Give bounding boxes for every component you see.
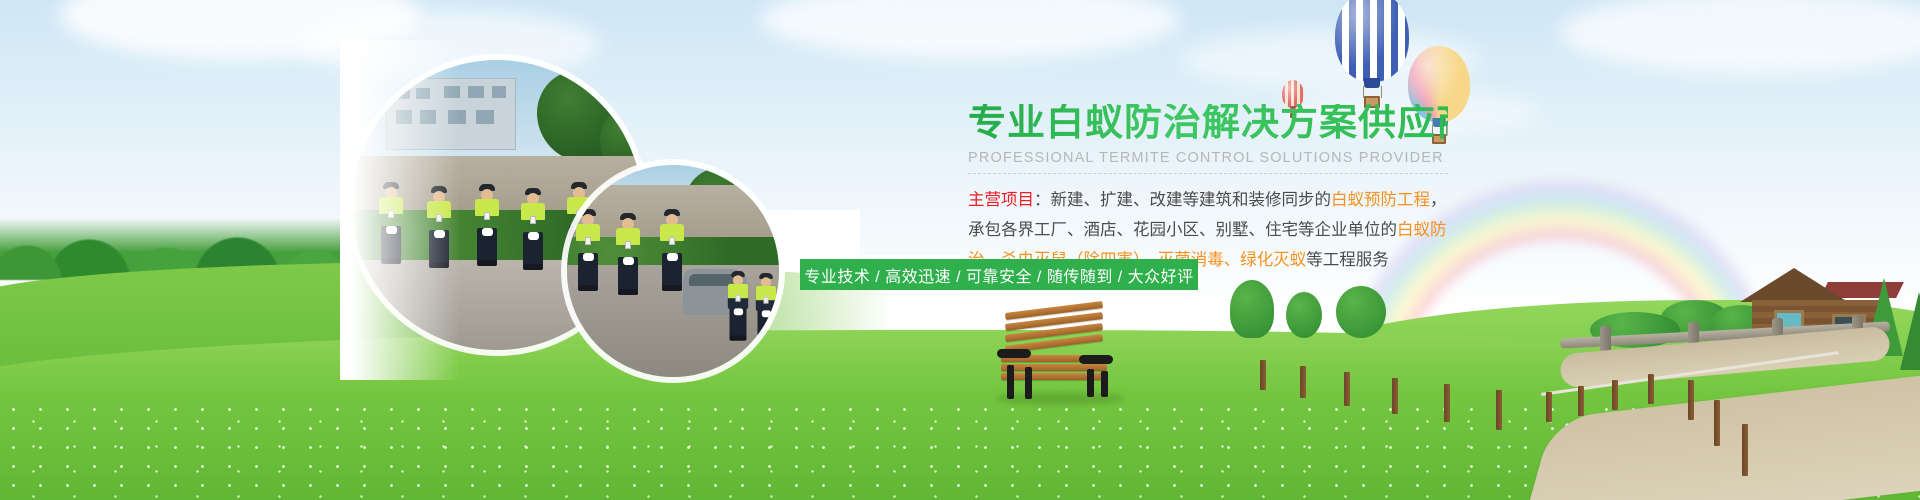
- banner-text-block: 专业白蚁防治解决方案供应商 PROFESSIONAL TERMITE CONTR…: [968, 104, 1448, 275]
- fence-post: [1496, 390, 1502, 430]
- label-colon: ：: [1034, 191, 1051, 209]
- services-label: 主营项目: [968, 191, 1034, 209]
- fence-post: [1260, 360, 1266, 390]
- fence-post: [1714, 400, 1720, 446]
- divider: [968, 173, 1448, 174]
- fence-post: [1688, 380, 1694, 420]
- fence-post: [1578, 386, 1584, 416]
- hot-air-balloon-blue-icon: [1335, 0, 1409, 82]
- hero-banner: 专业白蚁防治解决方案供应商 PROFESSIONAL TERMITE CONTR…: [0, 0, 1920, 500]
- cloud-decoration: [1560, 0, 1920, 75]
- page-title: 专业白蚁防治解决方案供应商: [968, 104, 1448, 144]
- park-bench-illustration: [995, 305, 1115, 400]
- fence-post: [1648, 374, 1654, 404]
- fence-post: [1444, 384, 1450, 422]
- fence-post: [1300, 366, 1306, 398]
- fence-post: [1742, 424, 1748, 476]
- desc-highlight-1: 白蚁预防工程: [1331, 191, 1430, 209]
- desc-segment-4: 等工程服务: [1306, 251, 1389, 269]
- team-photo-secondary: [567, 165, 779, 377]
- fence-post: [1392, 378, 1398, 414]
- shrub-decoration: [1230, 280, 1274, 338]
- feature-bar-label: 专业技术 / 高效迅速 / 可靠安全 / 随传随到 / 大众好评: [804, 263, 1193, 287]
- fence-post: [1546, 392, 1552, 422]
- fence-post: [1612, 380, 1618, 410]
- cloud-decoration: [760, 0, 1180, 60]
- shrub-decoration: [1286, 292, 1322, 338]
- desc-segment-1: 新建、扩建、改建等建筑和装修同步的: [1051, 191, 1332, 209]
- fence-post: [1344, 372, 1350, 406]
- feature-bar: 专业技术 / 高效迅速 / 可靠安全 / 随传随到 / 大众好评: [800, 259, 1198, 290]
- photo-collage: [352, 60, 812, 390]
- page-subtitle: PROFESSIONAL TERMITE CONTROL SOLUTIONS P…: [968, 150, 1448, 166]
- conifer-tree-decoration: [1900, 292, 1920, 370]
- shrub-decoration: [1336, 286, 1386, 338]
